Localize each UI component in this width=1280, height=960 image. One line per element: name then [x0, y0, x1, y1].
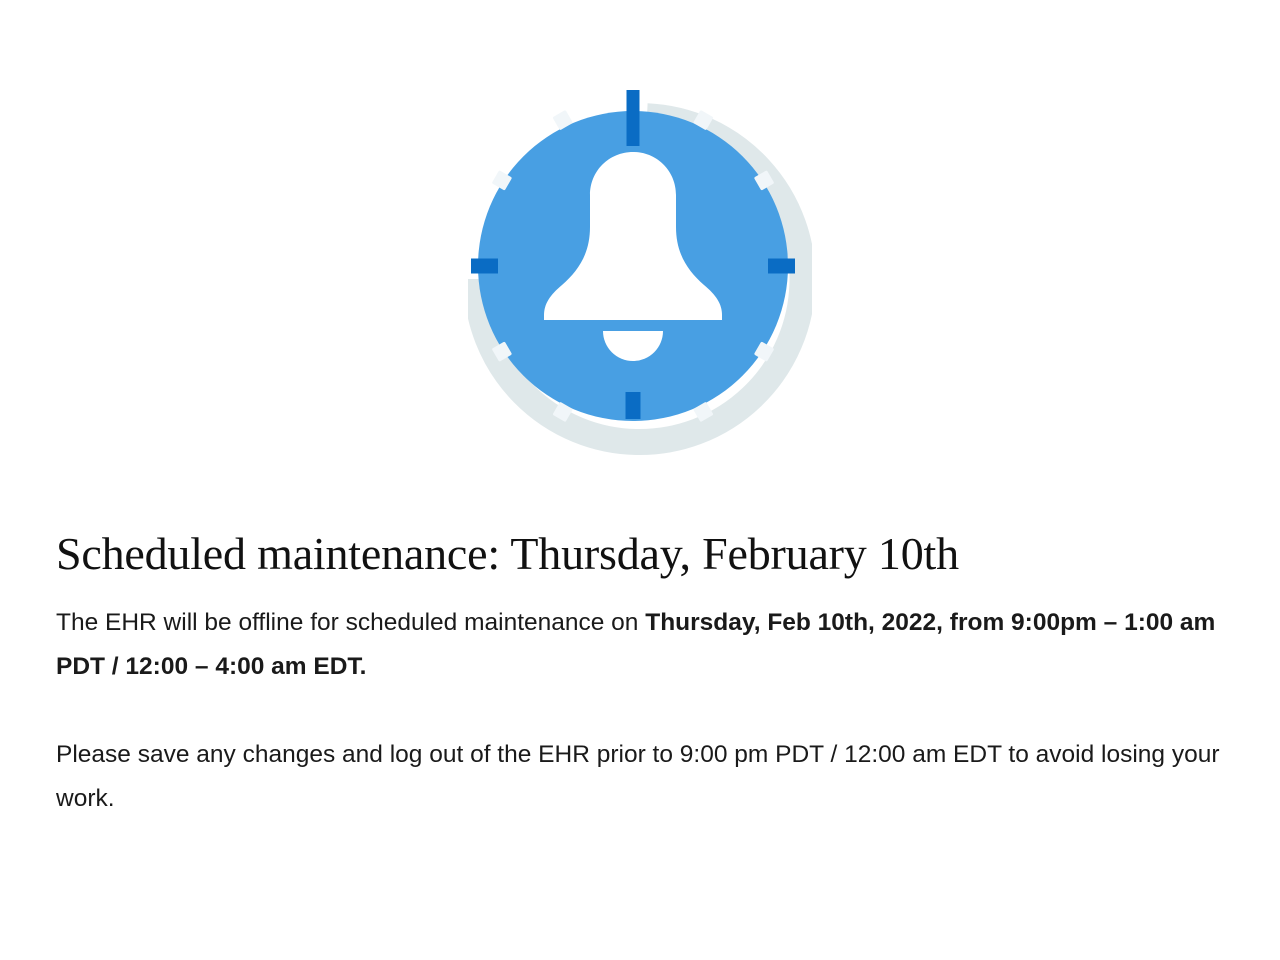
- notice-paragraph-1-lead: The EHR will be offline for scheduled ma…: [56, 609, 645, 636]
- clock-tick-9-icon: [471, 259, 498, 274]
- maintenance-notice-page: Scheduled maintenance: Thursday, Februar…: [0, 0, 1280, 960]
- notice-content: Scheduled maintenance: Thursday, Februar…: [56, 528, 1228, 821]
- page-title: Scheduled maintenance: Thursday, Februar…: [56, 528, 1228, 580]
- alarm-icon-container: [0, 88, 1280, 468]
- paragraph-spacer: [56, 689, 1228, 733]
- notice-body: The EHR will be offline for scheduled ma…: [56, 580, 1228, 821]
- clock-tick-12-icon: [627, 90, 640, 146]
- notice-paragraph-1: The EHR will be offline for scheduled ma…: [56, 601, 1228, 689]
- notice-paragraph-2: Please save any changes and log out of t…: [56, 733, 1228, 821]
- alarm-clock-bell-icon: [468, 88, 812, 458]
- clock-tick-6-icon: [626, 392, 641, 419]
- clock-tick-3-icon: [768, 259, 795, 274]
